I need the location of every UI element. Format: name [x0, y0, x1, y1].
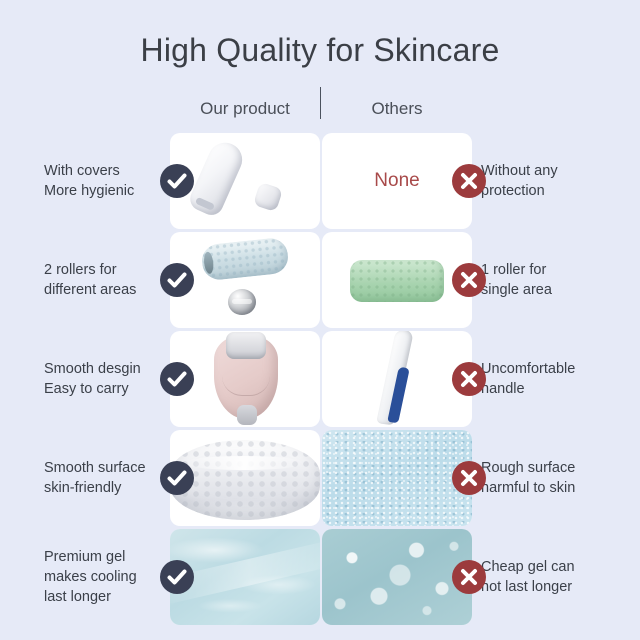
check-circle-icon [160, 263, 194, 297]
none-label: None [322, 133, 472, 229]
row-label-ours: Smooth surfaceskin-friendly [44, 458, 176, 498]
row-label-others: Rough surfaceharmful to skin [481, 458, 631, 498]
comparison-infographic: High Quality for Skincare Our product Ot… [0, 0, 640, 640]
x-circle-icon [452, 461, 486, 495]
check-circle-icon [160, 461, 194, 495]
row-label-ours: 2 rollers fordifferent areas [44, 260, 176, 300]
barrel-roller-shape [200, 237, 289, 282]
column-headers: Our product Others [0, 99, 640, 125]
check-circle-icon [160, 560, 194, 594]
comparison-row: Smooth desginEasy to carry [0, 331, 640, 427]
cover-sleeve-shape [186, 137, 247, 218]
row-label-others: Cheap gel cannot last longer [481, 557, 631, 597]
row-label-ours: Smooth desginEasy to carry [44, 359, 176, 399]
header-divider [320, 87, 321, 119]
card-others [322, 529, 472, 625]
x-circle-icon [452, 164, 486, 198]
x-circle-icon [452, 362, 486, 396]
card-others: None [322, 133, 472, 229]
card-others [322, 232, 472, 328]
x-circle-icon [452, 560, 486, 594]
single-green-roller-photo [322, 232, 472, 328]
card-others [322, 331, 472, 427]
cover-cap-shape [253, 182, 283, 212]
handle-shape [382, 331, 408, 425]
device-foot-shape [237, 405, 257, 425]
comparison-row: With coversMore hygienic None Without an… [0, 133, 640, 229]
blue-handle-photo [322, 331, 472, 427]
column-header-others: Others [322, 99, 472, 119]
row-label-others: Without anyprotection [481, 161, 631, 201]
green-roller-shape [350, 260, 444, 302]
device-body-shape [214, 335, 278, 419]
check-circle-icon [160, 362, 194, 396]
comparison-row: 2 rollers fordifferent areas 1 roller fo… [0, 232, 640, 328]
comparison-row: Smooth surfaceskin-friendly Rough surfac… [0, 430, 640, 526]
page-title: High Quality for Skincare [0, 32, 640, 69]
device-roller-head-shape [226, 332, 266, 359]
check-circle-icon [160, 164, 194, 198]
card-others [322, 430, 472, 526]
row-label-others: Uncomfortablehandle [481, 359, 631, 399]
row-label-others: 1 roller forsingle area [481, 260, 631, 300]
cheap-gel-photo [322, 529, 472, 625]
ball-roller-shape [228, 289, 256, 315]
device-seam-shape [222, 365, 270, 396]
column-header-our-product: Our product [170, 99, 320, 119]
surface-gloss-highlight [184, 456, 304, 470]
comparison-row: Premium gelmakes coolinglast longer Chea… [0, 529, 640, 625]
row-label-ours: Premium gelmakes coolinglast longer [44, 547, 176, 607]
rough-surface-photo [322, 430, 472, 526]
row-label-ours: With coversMore hygienic [44, 161, 176, 201]
x-circle-icon [452, 263, 486, 297]
